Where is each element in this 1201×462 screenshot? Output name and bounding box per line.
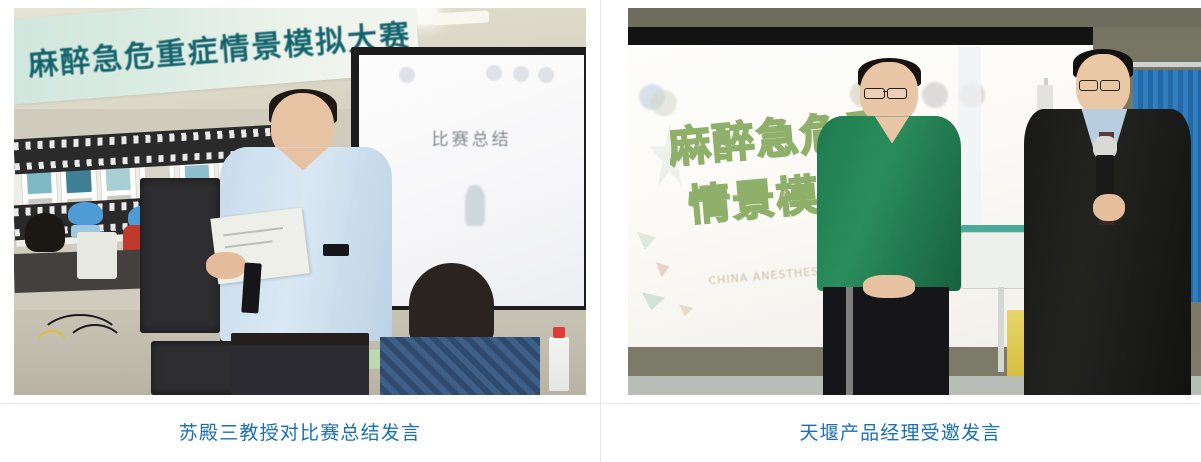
- surgical-cap-icon: [68, 202, 102, 225]
- screen-top-bar: [628, 27, 1093, 44]
- photo-gallery: 麻醉急危重症情景模拟大赛 60: [0, 0, 1201, 462]
- eyeglasses-icon: [864, 88, 884, 99]
- speaker-hand: [1093, 194, 1125, 221]
- audience-head: [25, 213, 65, 252]
- screen-icon-row: [399, 65, 557, 85]
- gallery-item-left[interactable]: 麻醉急危重症情景模拟大赛 60: [0, 0, 600, 462]
- screen-avatar: [465, 185, 485, 225]
- eyeglasses-icon: [887, 88, 907, 99]
- eyeglasses-icon: [1100, 80, 1119, 91]
- foreground-audience-head: [409, 263, 495, 348]
- photo-caption-left: 苏殿三教授对比赛总结发言: [179, 422, 421, 445]
- wristwatch-icon: [323, 244, 349, 256]
- confetti-decor: [679, 304, 693, 316]
- clasped-hands: [863, 275, 915, 298]
- gallery-item-right[interactable]: 麻醉急危重 情景模拟大赛 CHINA ANESTHESIA SIMULATION…: [600, 0, 1200, 462]
- eyeglasses-bridge: [883, 91, 888, 93]
- window-light: [958, 47, 981, 225]
- caption-bar-right: 天堰产品经理受邀发言: [601, 403, 1200, 462]
- screen-title-text: 比赛总结: [359, 125, 585, 150]
- ceiling: [628, 8, 1201, 27]
- photo-left[interactable]: 麻醉急危重症情景模拟大赛 60: [14, 8, 586, 395]
- confetti-decor: [656, 262, 670, 277]
- trouser-side-stripe: [846, 287, 853, 395]
- water-bottle-icon: [549, 337, 570, 391]
- presenter-trousers: [231, 345, 368, 395]
- confetti-decor: [637, 232, 656, 250]
- confetti-decor: [642, 292, 665, 310]
- photo-caption-right: 天堰产品经理受邀发言: [799, 422, 1001, 445]
- photo-right[interactable]: 麻醉急危重 情景模拟大赛 CHINA ANESTHESIA SIMULATION…: [628, 8, 1201, 395]
- foreground-audience-plaid-shirt: [380, 337, 540, 395]
- caption-bar-left: 苏殿三教授对比赛总结发言: [0, 403, 600, 462]
- eyeglasses-icon: [1079, 80, 1098, 91]
- white-equipment-box: [77, 232, 117, 278]
- clinician-green-scrubs: [817, 116, 961, 290]
- presenter-hand: [206, 252, 246, 279]
- microphone-icon: [241, 263, 262, 314]
- curtain-rail: [1122, 62, 1201, 67]
- clinician-trousers: [823, 287, 949, 395]
- medical-cart-leg: [998, 287, 1004, 372]
